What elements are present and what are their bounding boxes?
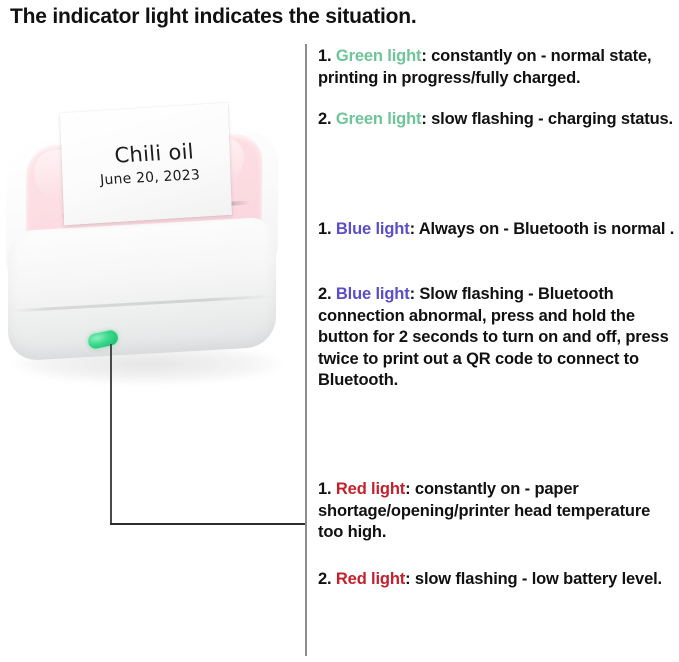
note-red-2: 2. Red light: slow flashing - low batter… <box>318 569 676 591</box>
printer-body-lower <box>8 217 276 362</box>
note-green-2: 2. Green light: slow flashing - charging… <box>318 109 676 131</box>
column-divider <box>305 44 307 656</box>
note-keyword: Green light <box>336 110 421 128</box>
note-green-1: 1. Green light: constantly on - normal s… <box>318 46 676 89</box>
note-keyword: Red light <box>336 570 405 588</box>
printed-label-content: Chili oil June 20, 2023 <box>58 104 235 225</box>
callout-leader-line-vertical <box>110 344 112 525</box>
note-keyword: Green light <box>336 47 421 65</box>
printed-label: Chili oil June 20, 2023 <box>60 103 232 226</box>
note-blue-1: 1. Blue light: Always on - Bluetooth is … <box>318 219 676 241</box>
note-blue-2: 2. Blue light: Slow flashing - Bluetooth… <box>318 284 676 392</box>
note-number: 1. <box>318 480 336 498</box>
note-keyword: Blue light <box>336 220 410 238</box>
note-body: : Always on - Bluetooth is normal . <box>410 220 675 238</box>
note-keyword: Blue light <box>336 285 410 303</box>
note-number: 2. <box>318 285 336 303</box>
page-title: The indicator light indicates the situat… <box>10 0 670 34</box>
note-number: 2. <box>318 110 336 128</box>
note-number: 2. <box>318 570 336 588</box>
note-keyword: Red light <box>336 480 405 498</box>
note-body: : slow flashing - low battery level. <box>405 570 662 588</box>
callout-leader-line-horizontal <box>110 523 306 525</box>
printer-illustration: Chili oil June 20, 2023 <box>0 44 300 544</box>
printed-label-date: June 20, 2023 <box>100 167 201 188</box>
note-number: 1. <box>318 47 336 65</box>
note-body: : slow flashing - charging status. <box>421 110 673 128</box>
note-number: 1. <box>318 220 336 238</box>
printed-label-title: Chili oil <box>114 139 195 167</box>
note-red-1: 1. Red light: constantly on - paper shor… <box>318 479 676 544</box>
